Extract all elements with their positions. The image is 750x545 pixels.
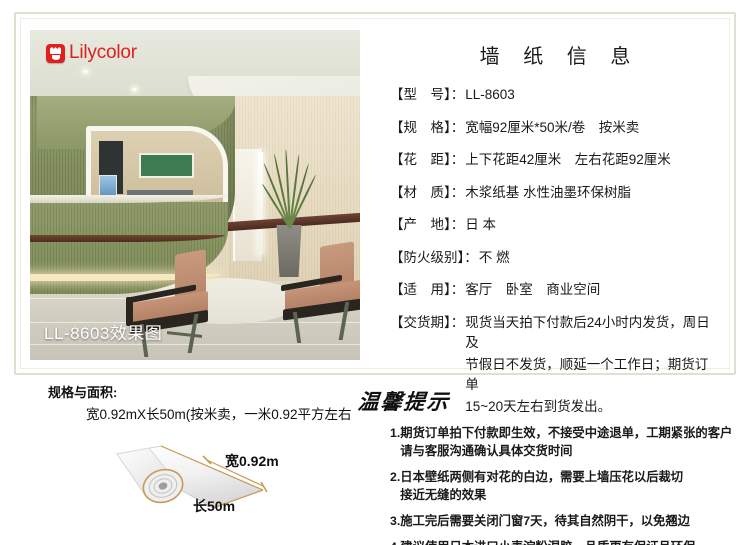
spec-value-line: 现货当天拍下付款后24小时内发货，周日及 [465,313,720,352]
tip-number: 3. [390,513,400,530]
lily-flower-icon [46,44,65,63]
tip-number: 4. [390,539,400,545]
tips-heading: 温馨提示 [356,386,451,416]
spec-value-line: 上下花距42厘米 左右花距92厘米 [465,150,671,170]
spec-row-model: 【型 号】： LL-8603 [390,85,720,105]
door-light-strip [258,152,263,254]
info-title: 墙 纸 信 息 [390,40,720,69]
spec-value: 日 本 [465,215,496,235]
roll-width-label: 宽0.92m [225,451,279,471]
spec-key: 【适 用】： [390,280,464,300]
tip-item: 4. 建议使用日本进口小麦淀粉湿胶，品质更有保证且环保 [390,539,746,545]
spec-value: 客厅 卧室 商业空间 [465,280,600,300]
tip-line: 日本壁纸两侧有对花的白边，需要上墙压花以后裁切 [400,469,683,486]
dimensions-block: 规格与面积: 宽0.92mX长50m(按米卖，一米0.92平方左右 [48,382,368,423]
spec-key: 【防火级别】： [390,248,478,268]
spec-key: 【规 格】： [390,118,464,138]
spec-row-origin: 【产 地】： 日 本 [390,215,720,235]
tips-block: 温馨提示 1. 期货订单拍下付款即生效，不接受中途退单，工期紧张的客户 请与客服… [358,386,746,545]
tip-line: 请与客服沟通确认具体交货时间 [400,443,732,460]
brand-logo: Lilycolor [46,42,137,64]
spec-value: 木浆纸基 水性油墨环保树脂 [465,183,631,203]
spec-value: 上下花距42厘米 左右花距92厘米 [465,150,671,170]
spec-key: 【产 地】： [390,215,464,235]
spec-value: 不 燃 [479,248,510,268]
spec-key: 【材 质】： [390,183,464,203]
spec-value-line: 不 燃 [479,248,510,268]
product-info-panel: 墙 纸 信 息 【型 号】： LL-8603 【规 格】： 宽幅92厘米*50米… [390,28,720,430]
spec-row-pattern-repeat: 【花 距】： 上下花距42厘米 左右花距92厘米 [390,150,720,170]
tip-item: 3. 施工完后需要关闭门窗7天，待其自然阴干，以免翘边 [390,513,746,530]
spec-value: LL-8603 [465,85,515,105]
spec-value: 宽幅92厘米*50米/卷 按米卖 [465,118,639,138]
tip-text: 建议使用日本进口小麦淀粉湿胶，品质更有保证且环保 [400,539,695,545]
brand-name: Lilycolor [69,42,137,64]
tip-item: 2. 日本壁纸两侧有对花的白边，需要上墙压花以后裁切 接近无缝的效果 [390,469,746,504]
dimensions-subtitle: 宽0.92mX长50m(按米卖，一米0.92平方左右 [86,403,368,423]
tip-number: 1. [390,425,400,460]
roll-length-label: 长50m [193,496,235,516]
potted-grass-plant [274,149,304,228]
spec-key: 【型 号】： [390,85,464,105]
tip-line: 施工完后需要关闭门窗7天，待其自然阴干，以免翘边 [400,513,690,530]
tip-text: 日本壁纸两侧有对花的白边，需要上墙压花以后裁切 接近无缝的效果 [400,469,683,504]
downlight-icon [132,88,137,91]
tip-text: 施工完后需要关闭门窗7天，待其自然阴干，以免翘边 [400,513,690,530]
dimensions-title: 规格与面积: [48,382,368,401]
spec-row-material: 【材 质】： 木浆纸基 水性油墨环保树脂 [390,183,720,203]
spec-row-application: 【适 用】： 客厅 卧室 商业空间 [390,280,720,300]
green-signboard [139,153,194,177]
spec-value-line: LL-8603 [465,85,515,105]
photo-caption: LL-8603效果图 [44,319,162,344]
tip-number: 2. [390,469,400,504]
wallpaper-product-infographic: Lilycolor LL-8603效果图 墙 纸 信 息 【型 号】： LL-8… [0,0,750,545]
spec-key: 【花 距】： [390,150,464,170]
spec-value-line: 客厅 卧室 商业空间 [465,280,600,300]
tip-line: 期货订单拍下付款即生效，不接受中途退单，工期紧张的客户 [400,425,732,442]
tip-text: 期货订单拍下付款即生效，不接受中途退单，工期紧张的客户 请与客服沟通确认具体交货… [400,425,732,460]
tip-line: 建议使用日本进口小麦淀粉湿胶，品质更有保证且环保 [400,539,695,545]
interior-showroom-photo: Lilycolor LL-8603效果图 [30,30,360,360]
spec-value-line: 宽幅92厘米*50米/卷 按米卖 [465,118,639,138]
tip-item: 1. 期货订单拍下付款即生效，不接受中途退单，工期紧张的客户 请与客服沟通确认具… [390,425,746,460]
tip-line: 接近无缝的效果 [400,487,683,504]
downlight-icon [83,70,88,73]
spec-value-line: 木浆纸基 水性油墨环保树脂 [465,183,631,203]
spec-row-size: 【规 格】： 宽幅92厘米*50米/卷 按米卖 [390,118,720,138]
lounge-chair [281,261,360,347]
spec-value-line: 日 本 [465,215,496,235]
spec-row-fire-rating: 【防火级别】： 不 燃 [390,248,720,268]
